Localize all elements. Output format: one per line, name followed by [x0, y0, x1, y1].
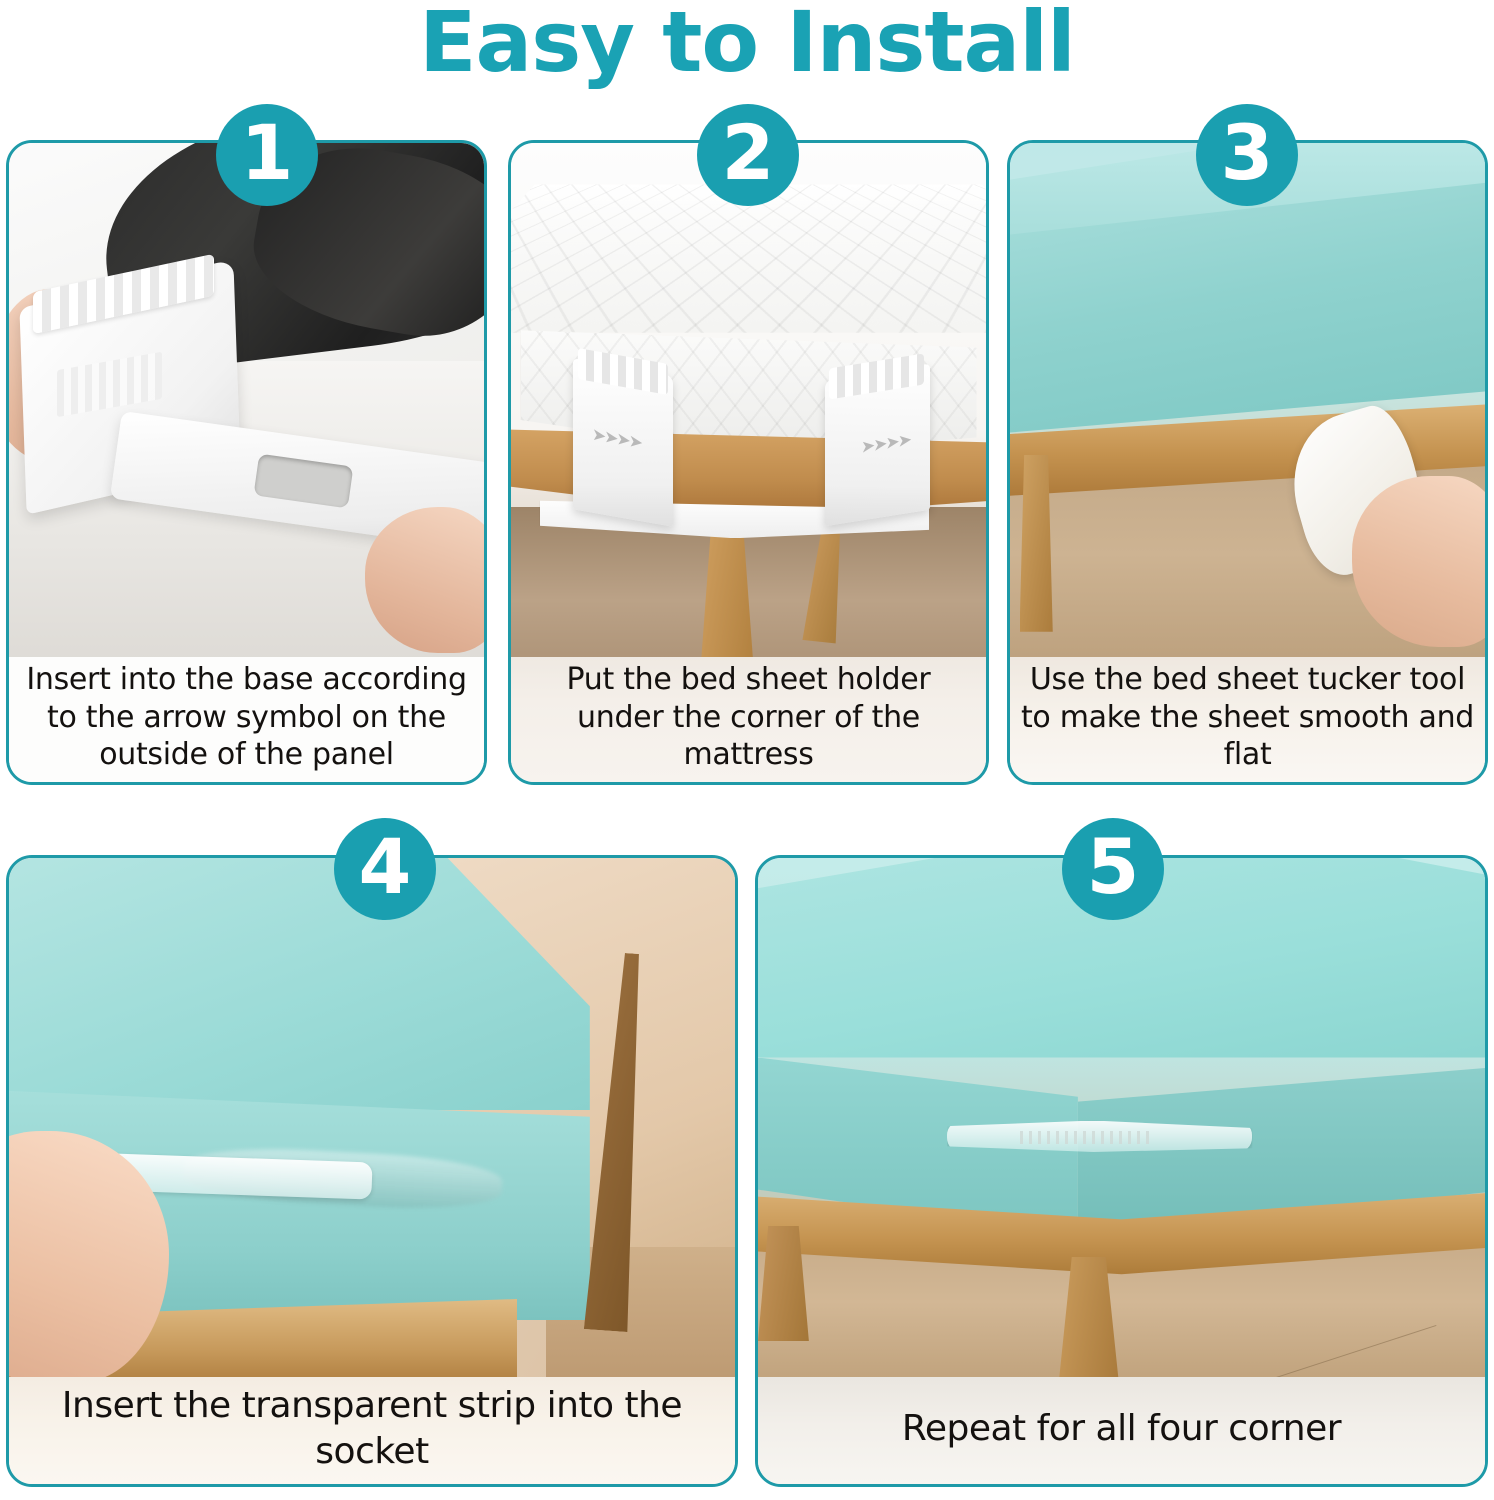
step-caption-3-text: Use the bed sheet tucker tool to make th…: [1020, 661, 1475, 774]
step-photo-1: [9, 143, 484, 663]
step-caption-5: Repeat for all four corner: [758, 1377, 1485, 1484]
step-card-1: Insert into the base according to the ar…: [6, 140, 487, 785]
step-card-5: Repeat for all four corner: [755, 855, 1488, 1487]
step-caption-2-text: Put the bed sheet holder under the corne…: [521, 661, 976, 774]
step-badge-5: 5: [1062, 818, 1164, 920]
step-badge-4: 4: [334, 818, 436, 920]
infographic-page: Easy to Install Insert into the base acc…: [0, 0, 1494, 1500]
step-caption-4-text: Insert the transparent strip into the so…: [19, 1383, 725, 1474]
step-caption-5-text: Repeat for all four corner: [768, 1406, 1475, 1451]
step-caption-1: Insert into the base according to the ar…: [9, 657, 484, 782]
step-caption-3: Use the bed sheet tucker tool to make th…: [1010, 657, 1485, 782]
step-card-4: Insert the transparent strip into the so…: [6, 855, 738, 1487]
step-badge-3-number: 3: [1221, 115, 1274, 191]
step-badge-5-number: 5: [1087, 829, 1140, 905]
step-caption-4: Insert the transparent strip into the so…: [9, 1377, 735, 1484]
step-photo-5: [758, 858, 1485, 1383]
step-badge-2-number: 2: [722, 115, 775, 191]
step-badge-2: 2: [697, 104, 799, 206]
step-card-3: Use the bed sheet tucker tool to make th…: [1007, 140, 1488, 785]
step-badge-4-number: 4: [359, 829, 412, 905]
step-card-2: ➤➤➤➤ ➤➤➤➤ Put the bed sheet holder under…: [508, 140, 989, 785]
step-photo-4: [9, 858, 735, 1383]
step-badge-3: 3: [1196, 104, 1298, 206]
step-photo-2: ➤➤➤➤ ➤➤➤➤: [511, 143, 986, 663]
step-badge-1: 1: [216, 104, 318, 206]
page-title: Easy to Install: [0, 0, 1494, 91]
step-caption-2: Put the bed sheet holder under the corne…: [511, 657, 986, 782]
step-badge-1-number: 1: [241, 115, 294, 191]
step-caption-1-text: Insert into the base according to the ar…: [19, 661, 474, 774]
step-photo-3: [1010, 143, 1485, 663]
